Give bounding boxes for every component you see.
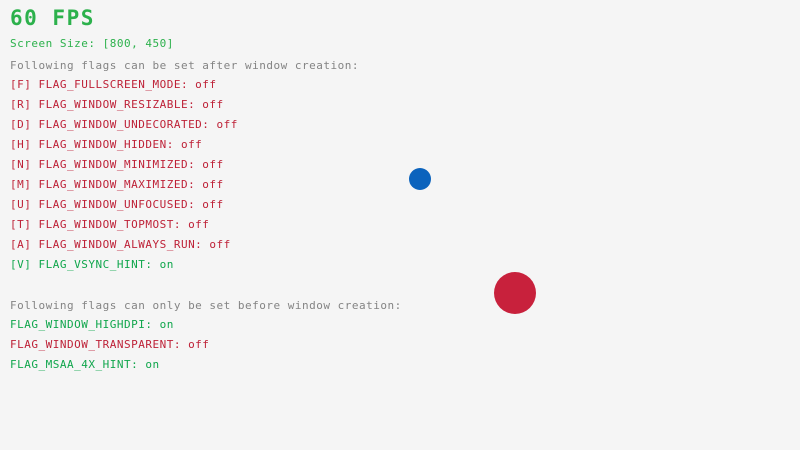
flag-row-flag-window-always-run[interactable]: [A] FLAG_WINDOW_ALWAYS_RUN: off xyxy=(10,239,231,250)
flag-row-flag-msaa-4x-hint[interactable]: FLAG_MSAA_4X_HINT: on xyxy=(10,359,160,370)
after-creation-section-header: Following flags can be set after window … xyxy=(10,60,359,71)
blue-ball-shape xyxy=(409,168,431,190)
flag-row-flag-window-highdpi[interactable]: FLAG_WINDOW_HIGHDPI: on xyxy=(10,319,174,330)
red-ball-shape xyxy=(494,272,536,314)
flag-row-flag-window-transparent[interactable]: FLAG_WINDOW_TRANSPARENT: off xyxy=(10,339,209,350)
flag-row-flag-fullscreen-mode[interactable]: [F] FLAG_FULLSCREEN_MODE: off xyxy=(10,79,217,90)
flag-row-flag-window-hidden[interactable]: [H] FLAG_WINDOW_HIDDEN: off xyxy=(10,139,202,150)
fps-counter: 60 FPS xyxy=(10,8,95,29)
flag-row-flag-window-unfocused[interactable]: [U] FLAG_WINDOW_UNFOCUSED: off xyxy=(10,199,224,210)
flag-row-flag-window-minimized[interactable]: [N] FLAG_WINDOW_MINIMIZED: off xyxy=(10,159,224,170)
before-creation-section-header: Following flags can only be set before w… xyxy=(10,300,402,311)
flag-row-flag-window-maximized[interactable]: [M] FLAG_WINDOW_MAXIMIZED: off xyxy=(10,179,224,190)
screen-size-label: Screen Size: [800, 450] xyxy=(10,38,174,49)
raylib-window-canvas[interactable]: 60 FPS Screen Size: [800, 450] Following… xyxy=(0,0,800,450)
flag-row-flag-window-resizable[interactable]: [R] FLAG_WINDOW_RESIZABLE: off xyxy=(10,99,224,110)
flag-row-flag-window-topmost[interactable]: [T] FLAG_WINDOW_TOPMOST: off xyxy=(10,219,209,230)
flag-row-flag-window-undecorated[interactable]: [D] FLAG_WINDOW_UNDECORATED: off xyxy=(10,119,238,130)
flag-row-flag-vsync-hint[interactable]: [V] FLAG_VSYNC_HINT: on xyxy=(10,259,174,270)
